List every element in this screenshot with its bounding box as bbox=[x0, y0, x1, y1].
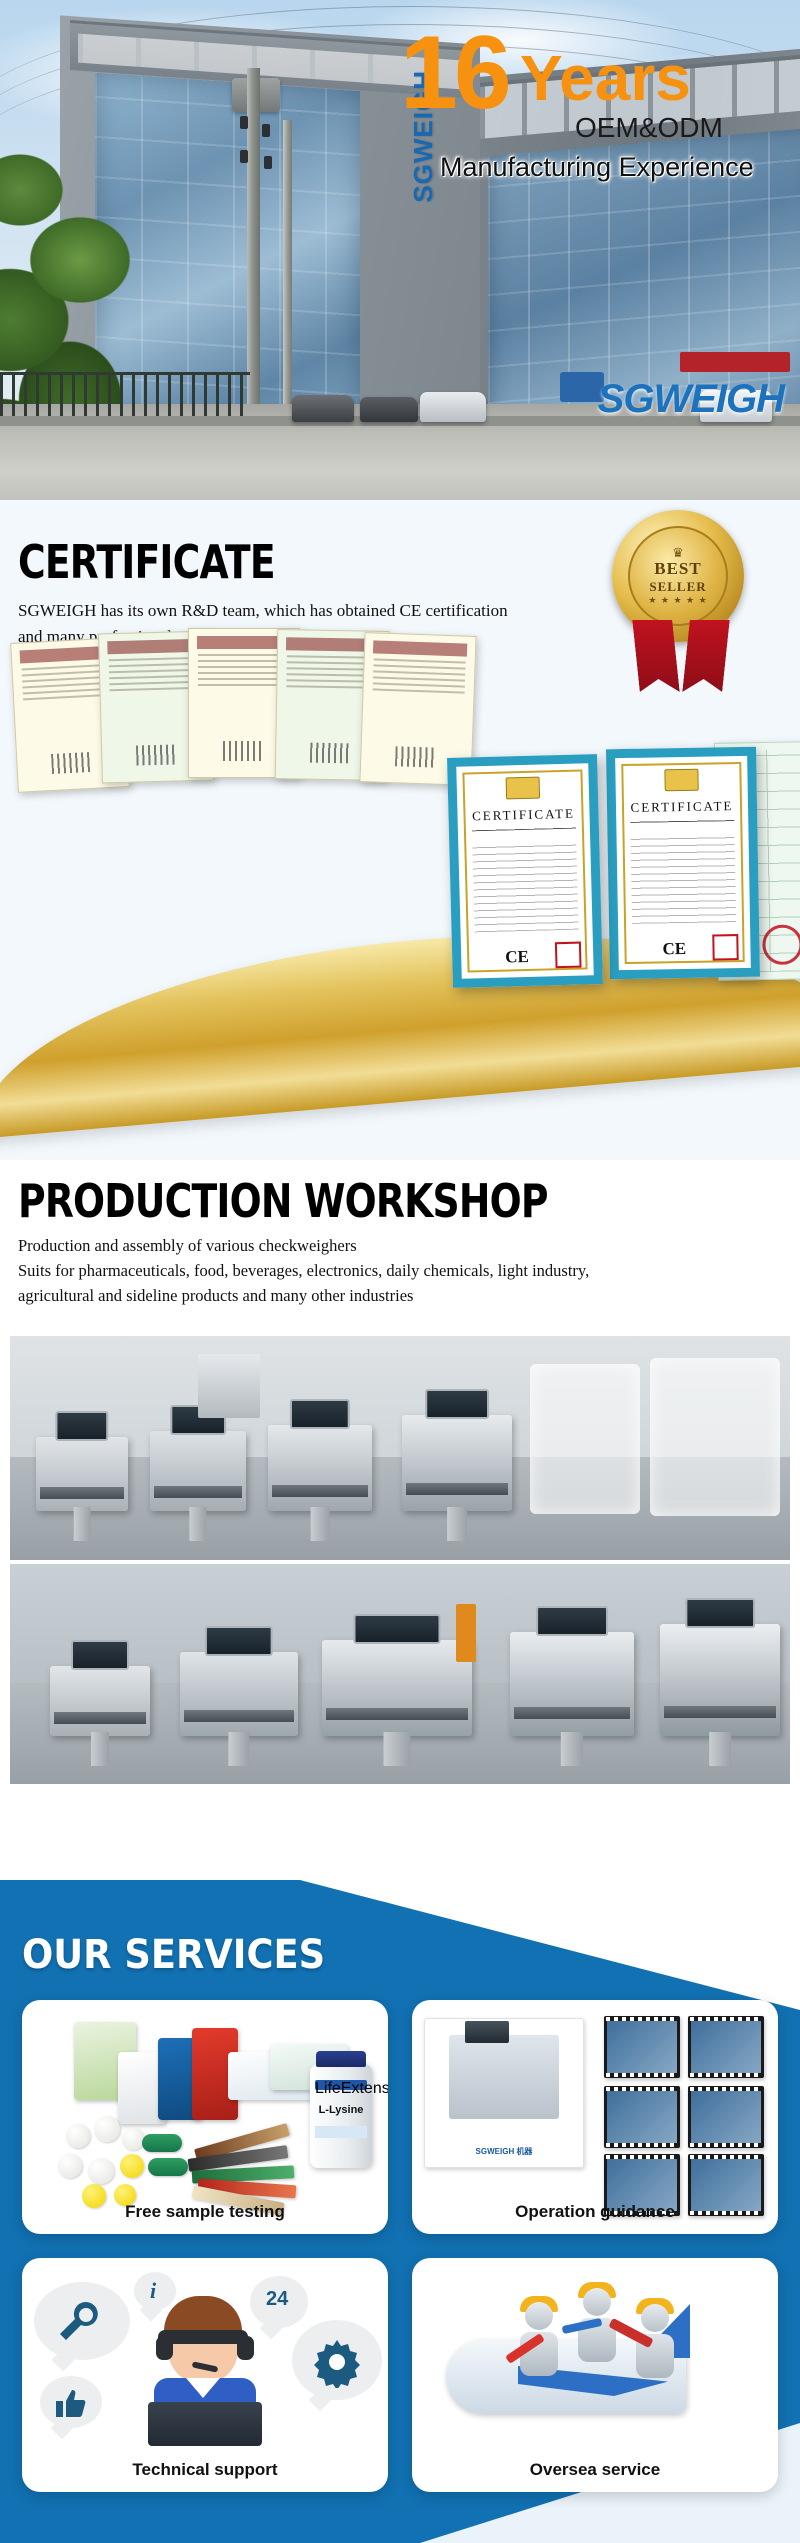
figure-head bbox=[525, 2302, 553, 2330]
card-label: Technical support bbox=[22, 2460, 388, 2480]
bottle-label-band bbox=[315, 2126, 367, 2138]
service-card-oversea-service[interactable]: Oversea service bbox=[412, 2258, 778, 2492]
supplement-bottle: LifeExtension L-Lysine bbox=[310, 2064, 372, 2168]
our-services-section: OUR SERVICES bbox=[0, 1880, 800, 2543]
insulator bbox=[264, 156, 272, 169]
workshop-photo-top bbox=[10, 1336, 790, 1560]
perimeter-fence bbox=[0, 372, 250, 416]
insulator bbox=[240, 116, 248, 129]
certificate-section: CERTIFICATE SGWEIGH has its own R&D team… bbox=[0, 500, 800, 1160]
machine-tower bbox=[198, 1354, 260, 1418]
service-card-operation-guidance[interactable]: SGWEIGH 机器 Operation guidance bbox=[412, 2000, 778, 2234]
insulator bbox=[240, 150, 248, 163]
tablet bbox=[88, 2158, 114, 2184]
thumbs-up-icon bbox=[54, 2388, 88, 2418]
machine-brochure-image: SGWEIGH 机器 bbox=[424, 2018, 584, 2168]
tablet bbox=[58, 2154, 82, 2178]
checkweigher-machine bbox=[150, 1431, 246, 1511]
red-seal-stamp bbox=[762, 924, 800, 965]
bottle-product-name: L-Lysine bbox=[310, 2104, 372, 2116]
emergency-stop-pole bbox=[456, 1604, 476, 1662]
parked-car bbox=[420, 392, 486, 422]
engineer-figure bbox=[574, 2288, 620, 2384]
parked-car bbox=[292, 395, 354, 422]
production-workshop-section: PRODUCTION WORKSHOP Production and assem… bbox=[0, 1160, 800, 1880]
years-number: 16 bbox=[400, 26, 508, 122]
tablet bbox=[122, 2128, 144, 2150]
crown-icon: ♛ bbox=[672, 546, 684, 559]
ce-mark: CE bbox=[662, 939, 686, 959]
red-banner-sign bbox=[680, 352, 790, 372]
years-word: Years bbox=[520, 46, 691, 110]
services-heading: OUR SERVICES bbox=[22, 1932, 325, 1978]
figure-head bbox=[641, 2304, 669, 2332]
checkweigher-machine bbox=[660, 1624, 780, 1736]
laptop-icon bbox=[148, 2402, 262, 2446]
video-thumbnail bbox=[688, 2016, 764, 2078]
workshop-description: Production and assembly of various check… bbox=[18, 1234, 788, 1308]
workshop-photo-bottom bbox=[10, 1564, 790, 1784]
engineer-figure bbox=[632, 2304, 678, 2400]
badge-line-1: BEST bbox=[654, 559, 701, 579]
workshop-line-1: Production and assembly of various check… bbox=[18, 1234, 788, 1259]
company-wordmark: SGWEIGH bbox=[598, 377, 784, 422]
tablet bbox=[94, 2116, 120, 2142]
checkweigher-machine bbox=[510, 1632, 634, 1736]
certification-stamp bbox=[555, 942, 582, 969]
technical-support-art: i 24 bbox=[22, 2266, 388, 2448]
conveyor-checkweigher bbox=[322, 1640, 472, 1736]
services-grid: LifeExtension L-Lysine Free sample testi… bbox=[22, 2000, 778, 2492]
video-thumbnail bbox=[688, 2086, 764, 2148]
ce-certificate-back: CERTIFICATE CE bbox=[606, 747, 760, 980]
certification-stamp bbox=[712, 934, 738, 960]
tablet bbox=[66, 2124, 90, 2148]
brochure-caption: SGWEIGH 机器 bbox=[425, 2146, 583, 2157]
certificate-heading: CERTIFICATE bbox=[18, 535, 275, 589]
ce-certificate-front: CERTIFICATE CE bbox=[447, 754, 603, 988]
udem-logo-icon bbox=[664, 769, 698, 792]
checkweigher-machine bbox=[36, 1437, 128, 1511]
card-label: Oversea service bbox=[412, 2460, 778, 2480]
checkweigher-machine bbox=[402, 1415, 512, 1511]
bottle-brand-band: LifeExtension bbox=[315, 2080, 367, 2090]
workshop-line-3: agricultural and sideline products and m… bbox=[18, 1284, 788, 1309]
tablet-yellow bbox=[120, 2154, 144, 2178]
workshop-line-2: Suits for pharmaceuticals, food, beverag… bbox=[18, 1259, 788, 1284]
support-agent-illustration bbox=[140, 2294, 270, 2444]
stars-icon: ★ ★ ★ ★ ★ bbox=[648, 595, 707, 606]
certificate-title: CERTIFICATE bbox=[616, 798, 748, 816]
capsule bbox=[142, 2134, 182, 2152]
medal-inner: ♛ BEST SELLER ★ ★ ★ ★ ★ bbox=[628, 526, 728, 626]
insulator bbox=[262, 124, 270, 137]
certificate-gallery: CERTIFICATE CE CERTIFICATE CE bbox=[10, 620, 790, 1040]
oem-odm-label: OEM&ODM bbox=[575, 112, 723, 144]
udem-logo-icon bbox=[506, 777, 541, 800]
service-card-technical-support[interactable]: i 24 bbox=[22, 2258, 388, 2492]
hero-banner: SGWEIGH SGWEIGH 16 Years OEM&ODM Manufac… bbox=[0, 0, 800, 500]
oversea-service-art bbox=[412, 2266, 778, 2448]
headset-earcup bbox=[237, 2336, 254, 2360]
headset-earcup bbox=[156, 2336, 173, 2360]
gear-icon bbox=[310, 2336, 364, 2388]
bottle-cap bbox=[316, 2051, 366, 2067]
card-label: Free sample testing bbox=[22, 2202, 388, 2222]
capsule bbox=[148, 2158, 188, 2176]
plastic-wrapped-machine bbox=[650, 1358, 780, 1516]
checkweigher-machine bbox=[50, 1666, 150, 1736]
operation-guidance-art: SGWEIGH 机器 bbox=[412, 2008, 778, 2190]
badge-line-2: SELLER bbox=[649, 579, 706, 595]
checkweigher-machine bbox=[268, 1425, 372, 1511]
wrench-icon bbox=[56, 2300, 102, 2342]
parked-car bbox=[360, 397, 418, 422]
ce-mark: CE bbox=[505, 947, 529, 968]
checkweigher-machine bbox=[180, 1652, 298, 1736]
card-label: Operation guidance bbox=[412, 2202, 778, 2222]
sample-products-art: LifeExtension L-Lysine bbox=[22, 2008, 388, 2190]
video-thumbnail bbox=[604, 2016, 680, 2078]
figure-head bbox=[583, 2288, 611, 2316]
video-thumbnail bbox=[604, 2086, 680, 2148]
checkweigher-illustration bbox=[449, 2035, 559, 2119]
plastic-wrapped-machine bbox=[530, 1364, 640, 1514]
manufacturing-experience-label: Manufacturing Experience bbox=[440, 152, 754, 183]
workshop-heading: PRODUCTION WORKSHOP bbox=[18, 1174, 548, 1228]
service-card-free-sample-testing[interactable]: LifeExtension L-Lysine Free sample testi… bbox=[22, 2000, 388, 2234]
